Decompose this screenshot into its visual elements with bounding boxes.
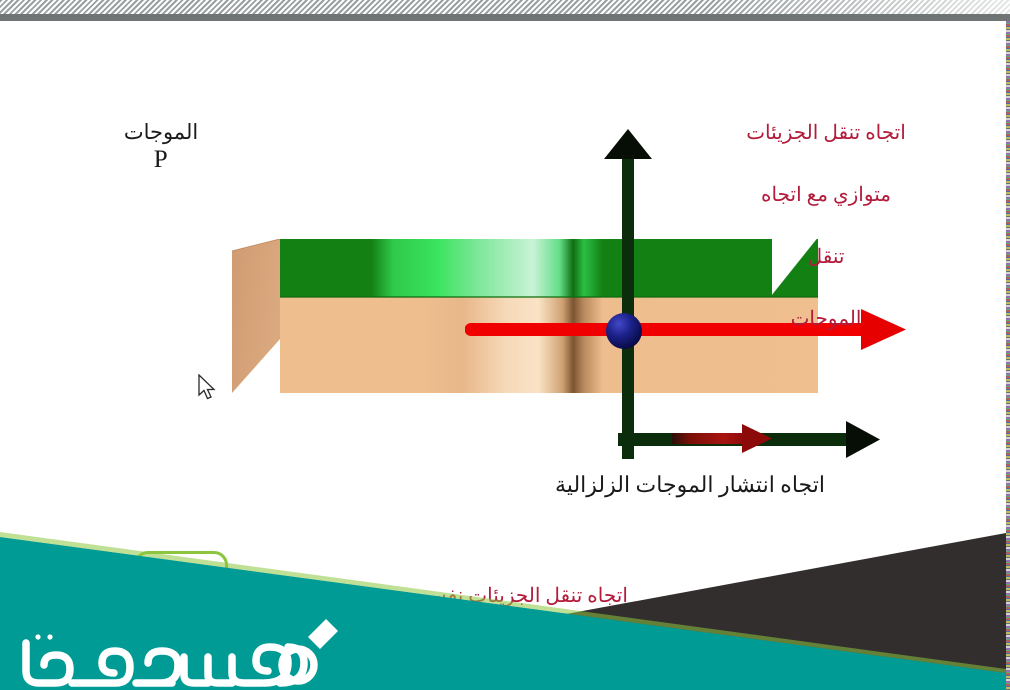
dark-red-arrow-head — [742, 424, 772, 453]
particle-sphere-body — [606, 313, 642, 349]
screenshot-canvas: الموجات P اتجاه تنقل الجزيئات متوازي مع … — [0, 0, 1010, 690]
particle-sphere — [605, 312, 643, 350]
p-wave-label-arabic: الموجات — [124, 120, 198, 144]
p-wave-label: الموجات P — [96, 95, 226, 199]
parallel-note-line-1: اتجاه تنقل الجزيئات — [718, 118, 934, 149]
window-top-rule — [0, 14, 1010, 21]
vertical-axis-shaft — [622, 147, 634, 459]
vertical-particle-axis-arrow — [600, 129, 656, 459]
cursor-arrow-icon — [199, 375, 214, 399]
red-arrow-tail-cap — [465, 323, 478, 336]
magnifier-handle — [308, 619, 338, 649]
window-top-dither-strip — [0, 0, 1010, 14]
vertical-axis-arrowhead — [604, 129, 652, 159]
parallel-note-line-4: الموجات — [718, 304, 934, 335]
p-wave-label-letter: P — [96, 145, 226, 175]
presentation-slide: الموجات P اتجاه تنقل الجزيئات متوازي مع … — [0, 21, 1006, 690]
watermark-logo — [12, 613, 342, 690]
propagation-direction-label: اتجاه انتشار الموجات الزلزالية — [530, 471, 850, 499]
dark-red-arrow-shaft — [672, 433, 746, 444]
right-edge-artifact-strip — [1006, 21, 1010, 690]
dark-red-wave-arrow — [672, 422, 782, 456]
mouse-cursor — [198, 374, 216, 400]
base-axis-arrowhead — [846, 421, 880, 458]
parallel-motion-note: اتجاه تنقل الجزيئات متوازي مع اتجاه تنقل… — [718, 87, 934, 366]
parallel-note-line-2: متوازي مع اتجاه — [718, 180, 934, 211]
parallel-note-line-3: تنقل — [718, 242, 934, 273]
block-left-face — [232, 239, 280, 393]
